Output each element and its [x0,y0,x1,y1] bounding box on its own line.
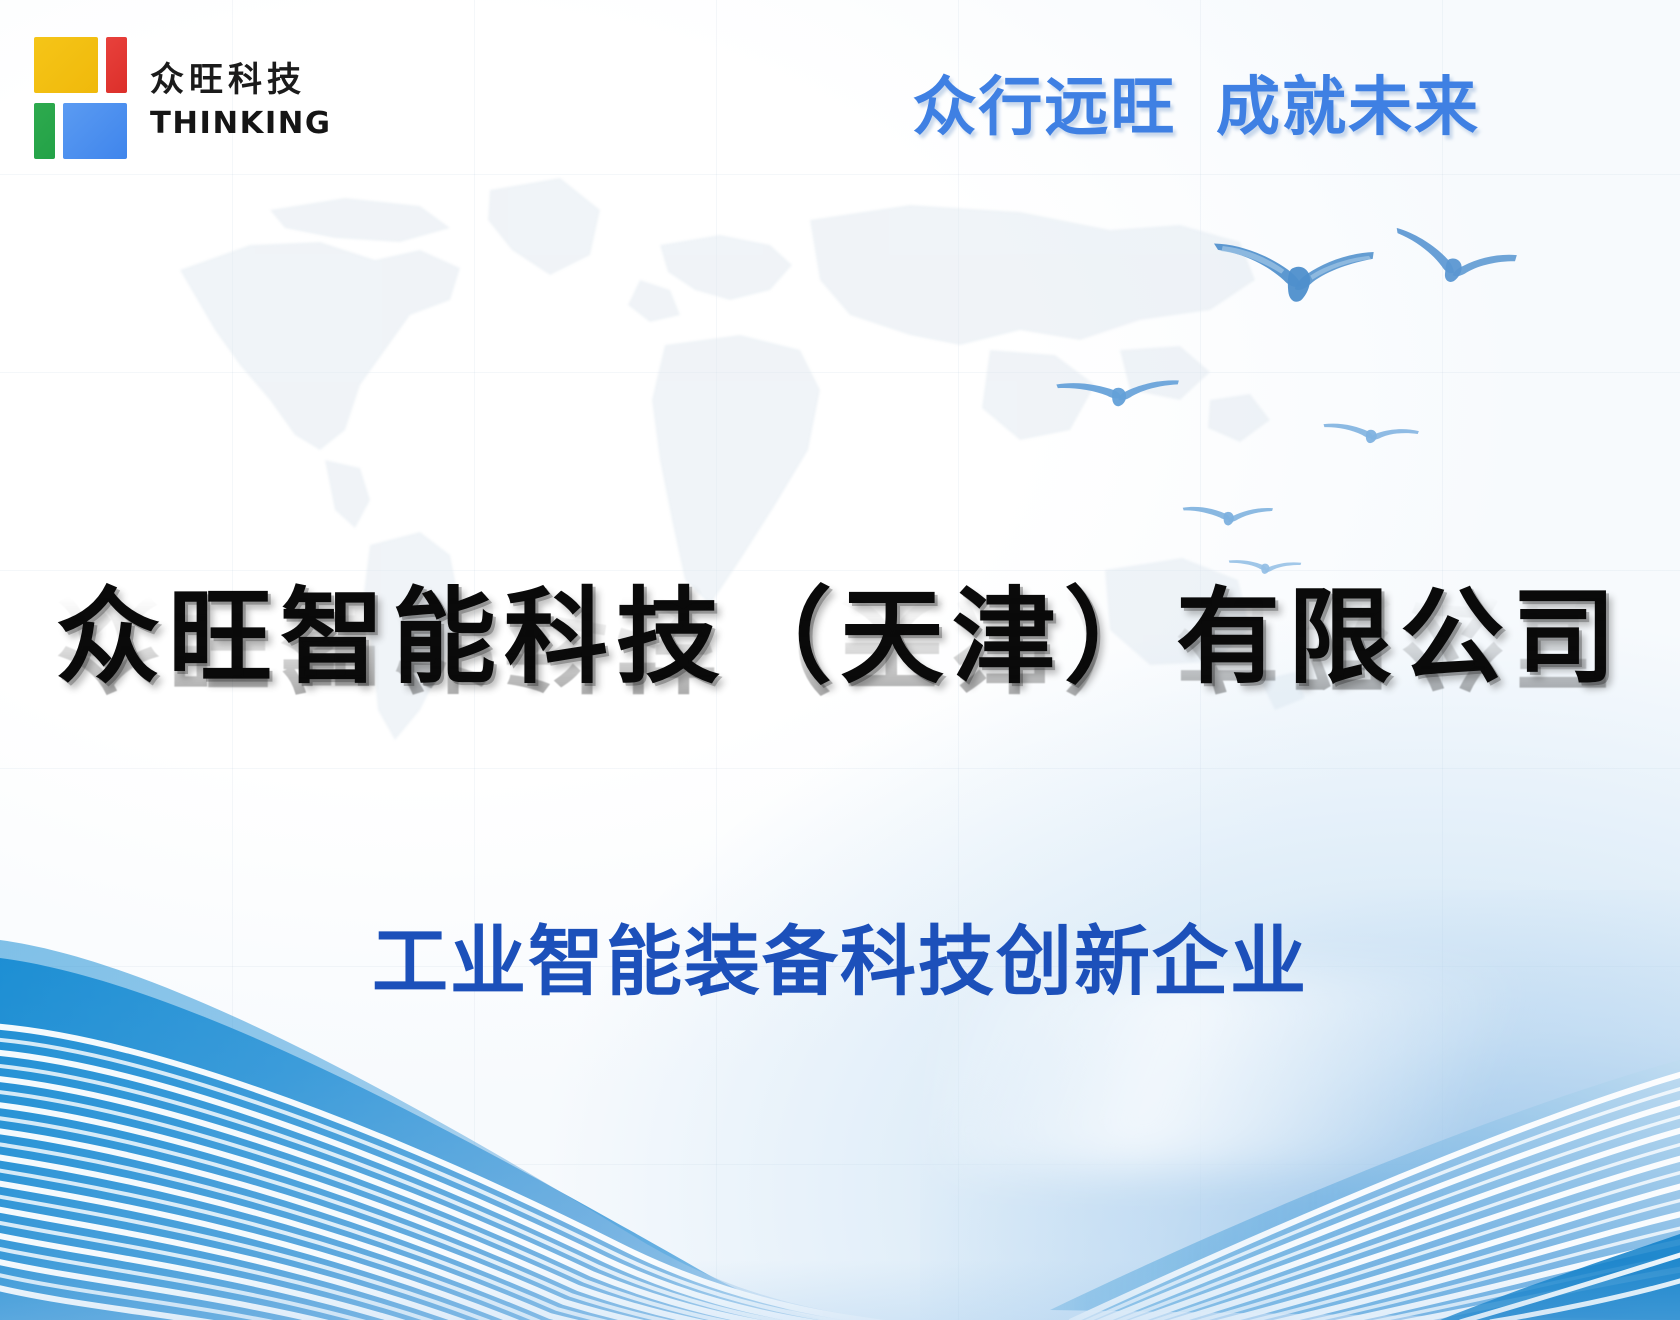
logo-yellow-block-icon [34,37,98,93]
logo-green-block-icon [34,103,55,159]
title-group: 众旺智能科技（天津）有限公司 众旺智能科技（天津）有限公司 [0,580,1680,815]
logo-english-name: THINKING [150,107,332,142]
logo-wordmark: 众旺科技 THINKING [150,36,328,162]
logo-mark-icon [34,37,130,161]
bottom-edge-sheen [0,1260,1680,1320]
company-logo[interactable]: 众旺科技 THINKING [34,36,328,162]
logo-blue-block-icon [63,103,127,159]
slide-header: 众旺科技 THINKING 众行远旺 成就未来 [0,0,1680,185]
logo-red-block-icon [106,37,127,93]
logo-chinese-name: 众旺科技 [150,62,328,99]
page-subtitle: 工业智能装备科技创新企业 [0,900,1680,1010]
page-title-reflection: 众旺智能科技（天津）有限公司 [0,582,1680,698]
header-slogan: 众行远旺 成就未来 [912,56,1480,148]
slide-canvas: 众旺科技 THINKING 众行远旺 成就未来 众旺智能科技（天津）有限公司 众… [0,0,1680,1320]
